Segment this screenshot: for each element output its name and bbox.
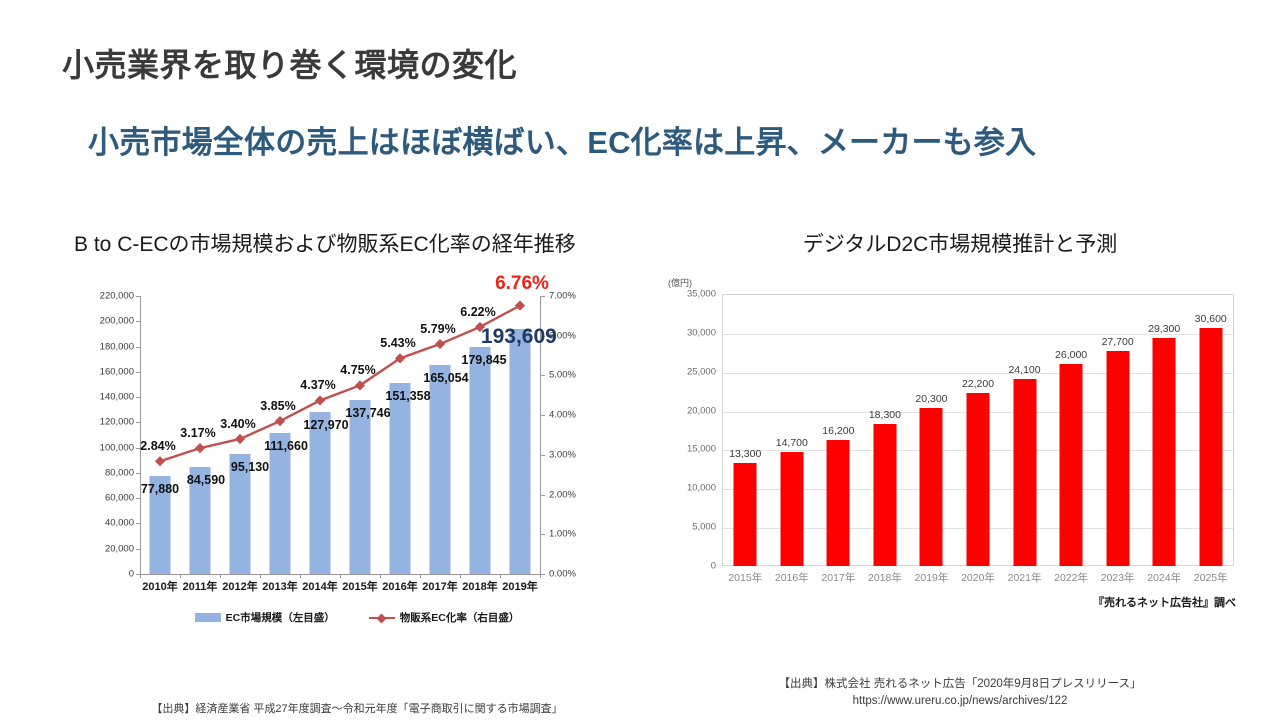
right-chart-bar-cell: [1187, 294, 1234, 566]
d2c-market-label: 13,300: [729, 448, 761, 460]
btoc-ec-chart: 020,00040,00060,00080,000100,000120,0001…: [62, 272, 652, 602]
left-chart-y2-tickmark: [541, 336, 545, 337]
left-chart-legend: EC市場規模（左目盛） 物販系EC化率（右目盛）: [62, 610, 652, 625]
left-chart-x-tickmark: [180, 574, 181, 578]
d2c-market-bar: [966, 393, 989, 566]
left-chart-y-axis-labels: 020,00040,00060,00080,000100,000120,0001…: [62, 296, 134, 574]
right-chart-x-axis-labels: 2015年2016年2017年2018年2019年2020年2021年2022年…: [722, 570, 1234, 590]
d2c-market-label: 16,200: [822, 425, 854, 437]
left-chart-y-tick: 180,000: [100, 341, 134, 352]
left-chart-x-tick: 2017年: [422, 578, 457, 594]
right-chart-bar-cell: [908, 294, 955, 566]
left-chart-y-tick: 20,000: [105, 543, 134, 554]
d2c-market-bar: [1199, 328, 1222, 566]
right-chart-source-line-1: 【出典】株式会社 売れるネット広告「2020年9月8日プレスリリース」: [660, 676, 1260, 693]
left-chart-x-axis-labels: 2010年2011年2012年2013年2014年2015年2016年2017年…: [140, 578, 540, 600]
ec-market-size-bar: [430, 365, 451, 574]
right-chart-bars: 13,30014,70016,20018,30020,30022,20024,1…: [722, 294, 1234, 566]
left-chart-x-tick: 2015年: [342, 578, 377, 594]
right-chart-x-tick: 2015年: [728, 570, 762, 585]
d2c-market-bar: [920, 408, 943, 566]
left-chart-heading: B to C-ECの市場規模および物販系EC化率の経年推移: [74, 228, 652, 258]
right-chart-y-tick: 25,000: [687, 366, 716, 377]
left-chart-bar-cell: [220, 296, 260, 574]
right-chart-y-tick: 35,000: [687, 289, 716, 300]
left-chart-y-tick: 80,000: [105, 467, 134, 478]
d2c-market-bar: [1153, 338, 1176, 566]
ec-market-size-bar: [510, 329, 531, 574]
left-chart-x-tickmark: [220, 574, 221, 578]
left-chart-y2-tick: 2.00%: [549, 489, 576, 500]
left-chart-x-tickmark: [380, 574, 381, 578]
right-chart-x-tick: 2019年: [915, 570, 949, 585]
right-chart-x-tick: 2017年: [821, 570, 855, 585]
left-chart-bar-cell: [140, 296, 180, 574]
d2c-market-bar: [827, 440, 850, 566]
left-chart-y2-tickmark: [541, 415, 545, 416]
left-chart-x-tickmark: [140, 574, 141, 578]
left-chart-y2-tick: 4.00%: [549, 410, 576, 421]
left-chart-x-tickmark: [500, 574, 501, 578]
right-chart-bar-cell: [722, 294, 769, 566]
d2c-market-label: 29,300: [1148, 323, 1180, 335]
right-chart-y-tick: 0: [711, 561, 716, 572]
right-chart-y-tick: 10,000: [687, 483, 716, 494]
left-chart-y2-tickmark: [541, 375, 545, 376]
left-chart-bar-cell: [500, 296, 540, 574]
left-chart-y-tick: 120,000: [100, 417, 134, 428]
left-chart-y2-tickmark: [541, 534, 545, 535]
slide-subtitle: 小売市場全体の売上はほぼ横ばい、EC化率は上昇、メーカーも参入: [88, 123, 1218, 164]
left-chart-x-tickmark: [540, 574, 541, 578]
d2c-market-label: 18,300: [869, 409, 901, 421]
left-chart-bar-cell: [340, 296, 380, 574]
ec-market-size-bar: [310, 412, 331, 574]
left-chart-bar-cell: [420, 296, 460, 574]
right-chart-bar-cell: [769, 294, 816, 566]
left-chart-y2-tick: 5.00%: [549, 370, 576, 381]
left-chart-x-tickmark: [340, 574, 341, 578]
legend-item-ec-market-size: EC市場規模（左目盛）: [195, 610, 335, 625]
right-chart-attribution: 『売れるネット広告社』調べ: [1093, 594, 1236, 610]
right-chart-bar-cell: [1001, 294, 1048, 566]
right-chart-x-tick: 2018年: [868, 570, 902, 585]
right-chart-y-tick: 5,000: [692, 522, 716, 533]
left-chart-y-tick: 140,000: [100, 392, 134, 403]
d2c-market-label: 26,000: [1055, 349, 1087, 361]
left-chart-x-tick: 2012年: [222, 578, 257, 594]
d2c-market-label: 20,300: [915, 393, 947, 405]
left-chart-y2-tick: 7.00%: [549, 291, 576, 302]
legend-item-ec-rate: 物販系EC化率（右目盛）: [369, 610, 520, 625]
right-chart-bar-cell: [862, 294, 909, 566]
right-chart-unit-label: (億円): [668, 276, 692, 289]
right-chart-x-tick: 2023年: [1101, 570, 1135, 585]
left-chart-bar-cell: [460, 296, 500, 574]
d2c-market-bar: [1060, 364, 1083, 566]
right-chart-bar-cell: [1048, 294, 1095, 566]
left-chart-y2-tickmark: [541, 574, 545, 575]
d2c-market-bar: [780, 452, 803, 566]
right-chart-source-line-2: https://www.ureru.co.jp/news/archives/12…: [660, 693, 1260, 710]
right-chart-bar-cell: [955, 294, 1002, 566]
left-chart-y-tick: 200,000: [100, 316, 134, 327]
line-swatch-icon: [369, 613, 395, 622]
right-chart-x-tick: 2020年: [961, 570, 995, 585]
right-chart-y-tick: 20,000: [687, 405, 716, 416]
left-chart-x-tickmark: [300, 574, 301, 578]
left-chart-y2-tickmark: [541, 495, 545, 496]
d2c-market-label: 24,100: [1008, 364, 1040, 376]
right-chart-x-tick: 2025年: [1194, 570, 1228, 585]
ec-rate-label: 6.76%: [495, 273, 549, 295]
left-chart-y2-tick: 0.00%: [549, 569, 576, 580]
left-chart-y2-axis-labels: 0.00%1.00%2.00%3.00%4.00%5.00%6.00%7.00%: [549, 296, 609, 574]
d2c-market-label: 27,700: [1102, 336, 1134, 348]
right-chart-x-tick: 2016年: [775, 570, 809, 585]
left-chart-x-tickmark: [260, 574, 261, 578]
d2c-market-bar: [734, 463, 757, 566]
left-chart-x-tick: 2011年: [183, 578, 218, 594]
ec-market-size-bar: [230, 454, 251, 574]
left-chart-x-tickmark: [460, 574, 461, 578]
left-chart-y2-tick: 6.00%: [549, 330, 576, 341]
d2c-market-label: 14,700: [776, 437, 808, 449]
left-chart-bar-cell: [300, 296, 340, 574]
bar-swatch-icon: [195, 613, 221, 622]
left-chart-x-tickmark: [420, 574, 421, 578]
left-chart-panel: B to C-ECの市場規模および物販系EC化率の経年推移 020,00040,…: [62, 228, 652, 698]
left-chart-y-tick: 40,000: [105, 518, 134, 529]
right-chart-panel: デジタルD2C市場規模推計と予測 (億円) 05,00010,00015,000…: [660, 228, 1260, 698]
left-chart-y-tick: 160,000: [100, 366, 134, 377]
left-chart-y2-tickmark: [541, 455, 545, 456]
right-chart-y-tick: 15,000: [687, 444, 716, 455]
left-chart-y2-tick: 3.00%: [549, 449, 576, 460]
ec-market-size-bar: [190, 467, 211, 574]
right-chart-y-axis-labels: 05,00010,00015,00020,00025,00030,00035,0…: [660, 294, 716, 566]
left-chart-bar-cell: [260, 296, 300, 574]
ec-market-size-bar: [350, 400, 371, 574]
ec-market-size-bar: [470, 347, 491, 574]
d2c-market-label: 22,200: [962, 378, 994, 390]
left-chart-x-tick: 2010年: [142, 578, 177, 594]
legend-label-ec-rate: 物販系EC化率（右目盛）: [400, 610, 520, 625]
left-chart-x-tick: 2013年: [262, 578, 297, 594]
right-chart-x-tick: 2024年: [1147, 570, 1181, 585]
left-chart-y-tick: 220,000: [100, 291, 134, 302]
left-chart-y-tick: 100,000: [100, 442, 134, 453]
slide: 小売業界を取り巻く環境の変化 小売市場全体の売上はほぼ横ばい、EC化率は上昇、メ…: [0, 0, 1280, 720]
page-title: 小売業界を取り巻く環境の変化: [62, 40, 517, 86]
d2c-forecast-chart: (億円) 05,00010,00015,00020,00025,00030,00…: [660, 276, 1260, 606]
right-chart-x-tick: 2022年: [1054, 570, 1088, 585]
left-chart-bar-cell: [180, 296, 220, 574]
right-chart-x-tick: 2021年: [1008, 570, 1042, 585]
right-chart-y-tick: 30,000: [687, 327, 716, 338]
left-chart-x-tick: 2019年: [502, 578, 537, 594]
left-chart-y2-axis-line: [540, 296, 541, 574]
d2c-market-label: 30,600: [1195, 313, 1227, 325]
left-chart-source: 【出典】経済産業省 平成27年度調査〜令和元年度「電子商取引に関する市場調査」: [62, 700, 652, 716]
d2c-market-bar: [873, 424, 896, 566]
ec-market-size-bar: [150, 476, 171, 574]
d2c-market-bar: [1106, 351, 1129, 566]
left-chart-x-tick: 2018年: [462, 578, 497, 594]
right-chart-source: 【出典】株式会社 売れるネット広告「2020年9月8日プレスリリース」 http…: [660, 676, 1260, 709]
left-chart-x-tick: 2016年: [382, 578, 417, 594]
right-chart-heading: デジタルD2C市場規模推計と予測: [660, 228, 1260, 258]
d2c-market-bar: [1013, 379, 1036, 566]
ec-market-size-bar: [270, 433, 291, 574]
left-chart-x-tick: 2014年: [302, 578, 337, 594]
ec-market-size-bar: [390, 383, 411, 574]
legend-label-ec-market-size: EC市場規模（左目盛）: [226, 610, 335, 625]
left-chart-y-tick: 60,000: [105, 493, 134, 504]
left-chart-y2-tick: 1.00%: [549, 529, 576, 540]
left-chart-y2-tickmark: [541, 296, 545, 297]
left-chart-bar-cell: [380, 296, 420, 574]
left-chart-y-tick: 0: [129, 569, 134, 580]
left-chart-bars: [140, 296, 540, 574]
